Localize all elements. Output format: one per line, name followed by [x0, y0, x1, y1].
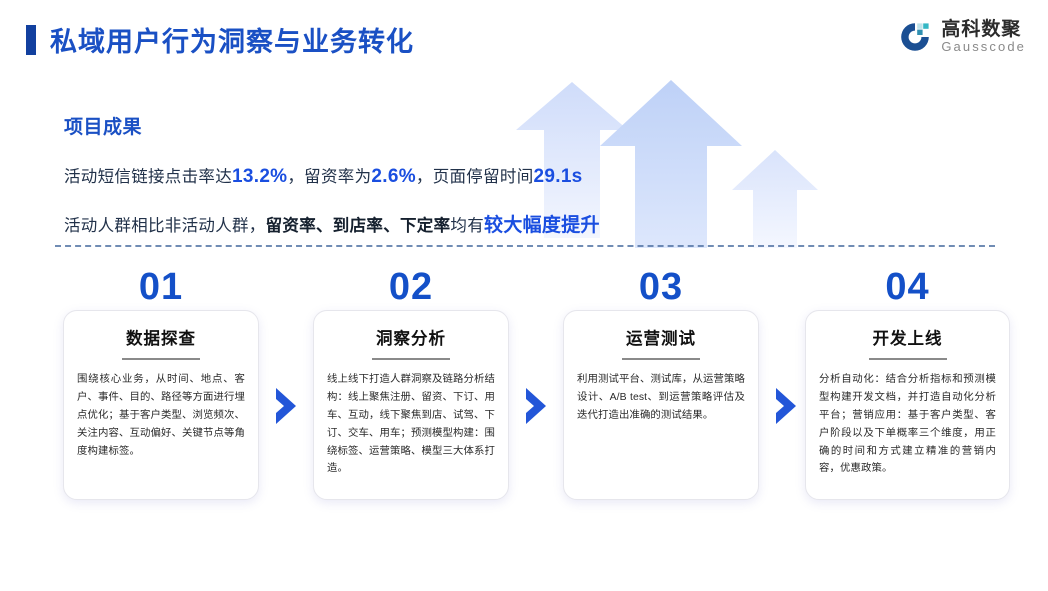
page-title: 私域用户行为洞察与业务转化 — [50, 20, 414, 59]
step-number-03: 03 — [563, 268, 759, 306]
step-title-rule — [869, 358, 947, 360]
page-title-group: 私域用户行为洞察与业务转化 — [26, 20, 414, 59]
step-description-04: 分析自动化：结合分析指标和预测模型构建开发文档，并打造自动化分析平台；营销应用：… — [819, 371, 996, 478]
chevron-right-icon-3 — [773, 386, 799, 426]
results-line1-part1: 活动短信链接点击率达 — [64, 168, 232, 186]
step-card-body-02[interactable]: 洞察分析 线上线下打造人群洞察及链路分析结构：线上聚焦注册、留资、下订、用车、互… — [313, 310, 509, 500]
results-heading: 项目成果 — [64, 112, 804, 139]
brand-name-en: Gausscode — [941, 40, 1026, 54]
chevron-right-icon-1 — [273, 386, 299, 426]
title-bullet-icon — [26, 25, 36, 55]
section-divider — [55, 245, 995, 247]
step-description-03: 利用测试平台、测试库，从运营策略设计、A/B test、到运营策略评估及迭代打造… — [577, 371, 745, 425]
results-line2-bold-metrics: 留资率、到店率、下定率 — [266, 217, 451, 235]
step-card-04[interactable]: 04 开发上线 分析自动化：结合分析指标和预测模型构建开发文档，并打造自动化分析… — [805, 268, 1010, 518]
brand-logo: 高科数聚 Gausscode — [898, 20, 1026, 54]
metric-lead-rate: 2.6% — [371, 166, 416, 187]
steps-row: 01 数据探查 围绕核心业务，从时间、地点、客户、事件、目的、路径等方面进行埋点… — [0, 268, 1048, 518]
step-card-body-03[interactable]: 运营测试 利用测试平台、测试库，从运营策略设计、A/B test、到运营策略评估… — [563, 310, 759, 500]
results-line-1: 活动短信链接点击率达13.2%，留资率为2.6%，页面停留时间29.1s — [64, 163, 804, 188]
results-line1-part2: ，留资率为 — [287, 168, 371, 186]
metric-click-rate: 13.2% — [232, 166, 287, 187]
results-line2-part2: 均有 — [450, 217, 484, 235]
step-number-02: 02 — [313, 268, 509, 306]
step-description-02: 线上线下打造人群洞察及链路分析结构：线上聚焦注册、留资、下订、用车、互动，线下聚… — [327, 371, 495, 478]
step-title-03: 运营测试 — [577, 325, 745, 349]
results-line1-part3: ，页面停留时间 — [416, 168, 534, 186]
step-description-01: 围绕核心业务，从时间、地点、客户、事件、目的、路径等方面进行埋点优化；基于客户类… — [77, 371, 245, 460]
step-number-04: 04 — [805, 268, 1010, 306]
step-card-03[interactable]: 03 运营测试 利用测试平台、测试库，从运营策略设计、A/B test、到运营策… — [563, 268, 759, 518]
chevron-right-icon-2 — [523, 386, 549, 426]
step-card-body-04[interactable]: 开发上线 分析自动化：结合分析指标和预测模型构建开发文档，并打造自动化分析平台；… — [805, 310, 1010, 500]
results-line2-highlight: 较大幅度提升 — [484, 215, 600, 236]
results-line-2: 活动人群相比非活动人群，留资率、到店率、下定率均有较大幅度提升 — [64, 210, 804, 237]
slide-header: 私域用户行为洞察与业务转化 高科数聚 Gausscode — [0, 0, 1048, 78]
step-title-01: 数据探查 — [77, 325, 245, 349]
step-title-04: 开发上线 — [819, 325, 996, 349]
step-card-01[interactable]: 01 数据探查 围绕核心业务，从时间、地点、客户、事件、目的、路径等方面进行埋点… — [63, 268, 259, 518]
step-number-01: 01 — [63, 268, 259, 306]
results-line2-part1: 活动人群相比非活动人群， — [64, 217, 266, 235]
step-card-body-01[interactable]: 数据探查 围绕核心业务，从时间、地点、客户、事件、目的、路径等方面进行埋点优化；… — [63, 310, 259, 500]
gausscode-logo-icon — [898, 20, 932, 54]
step-title-02: 洞察分析 — [327, 325, 495, 349]
brand-name-cn: 高科数聚 — [941, 20, 1026, 40]
brand-logo-text: 高科数聚 Gausscode — [941, 20, 1026, 54]
step-title-rule — [622, 358, 700, 360]
step-card-02[interactable]: 02 洞察分析 线上线下打造人群洞察及链路分析结构：线上聚焦注册、留资、下订、用… — [313, 268, 509, 518]
metric-dwell-time: 29.1s — [534, 166, 583, 187]
project-results-block: 项目成果 活动短信链接点击率达13.2%，留资率为2.6%，页面停留时间29.1… — [64, 112, 804, 259]
step-title-rule — [372, 358, 450, 360]
slide-root: 私域用户行为洞察与业务转化 高科数聚 Gausscode 项目成果 活动短信链接… — [0, 0, 1048, 591]
step-title-rule — [122, 358, 200, 360]
